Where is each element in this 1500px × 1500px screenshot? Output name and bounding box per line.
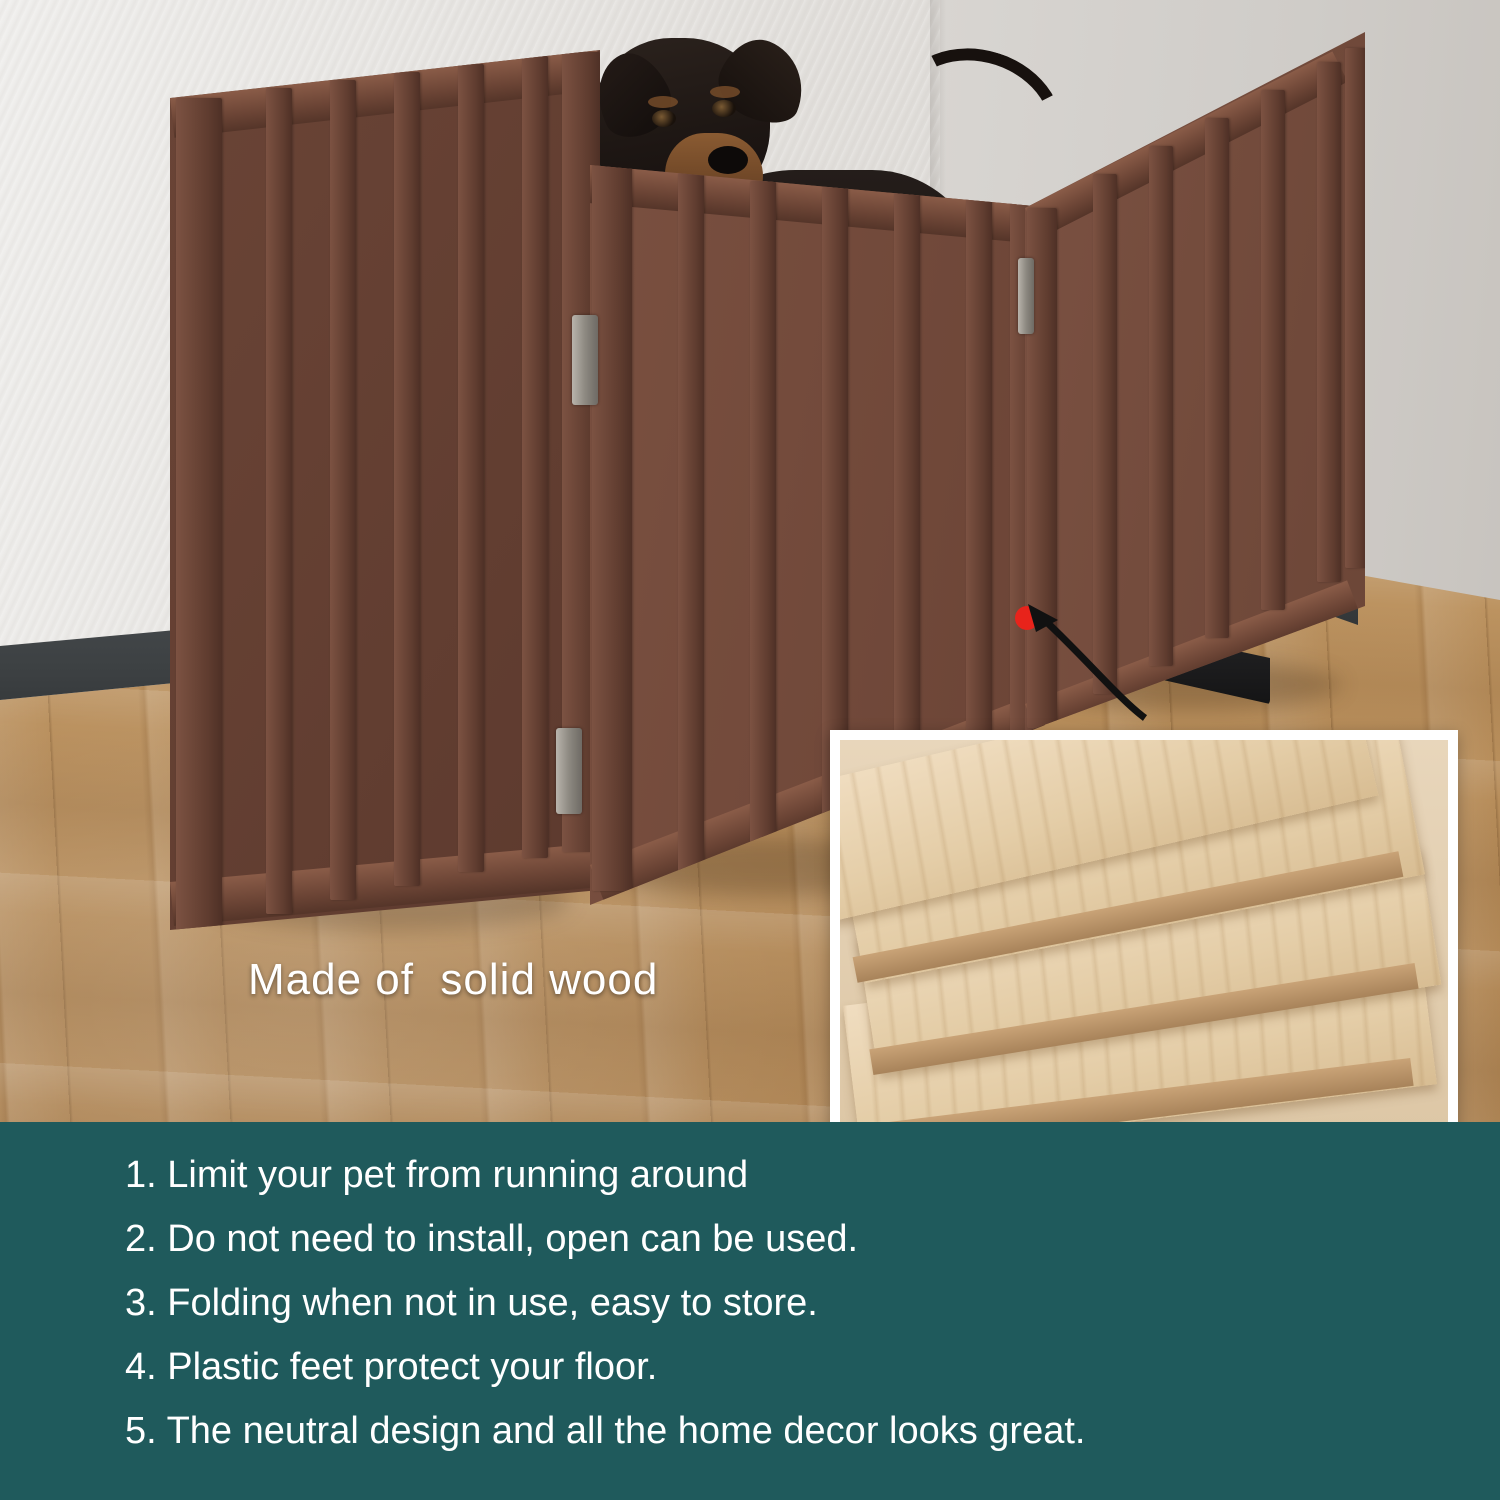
panel-stile [1345,48,1367,568]
panel-slat [678,173,704,873]
panel-slat [1317,62,1341,582]
dog-nose [708,146,748,174]
panel-stile [592,165,632,891]
hinge-right [1018,258,1034,334]
feature-item-1: 1. Limit your pet from running around [125,1156,1500,1194]
feature-item-5: 5. The neutral design and all the home d… [125,1412,1500,1450]
panel-slat [266,88,292,914]
dog-ear-right [709,29,818,134]
gate-panel-left [170,50,600,930]
feature-item-4: 4. Plastic feet protect your floor. [125,1348,1500,1386]
panel-slat [1205,118,1229,638]
hinge-lower [556,728,582,814]
callout-arrow-icon [1000,590,1180,730]
panel-slat [1149,146,1173,666]
dog-eye-right [712,100,736,117]
wood-closeup-inset [830,730,1458,1122]
dog-eye-left [652,110,676,127]
lifestyle-photo: Made of solid wood [0,0,1500,1122]
photo-caption: Made of solid wood [248,955,658,1005]
feature-item-3: 3. Folding when not in use, easy to stor… [125,1284,1500,1322]
product-infographic: Made of solid wood 1. Limit your pet fro… [0,0,1500,1500]
panel-slat [522,56,548,858]
feature-list: 1. Limit your pet from running around 2.… [0,1122,1500,1500]
panel-stile [176,98,222,930]
hinge-upper [572,315,598,405]
panel-slat [750,181,776,861]
dog-brow-left [648,96,678,108]
panel-slat [394,72,420,886]
panel-slat [330,80,356,900]
panel-slat [1261,90,1285,610]
dog-brow-right [710,86,740,98]
panel-slat [458,64,484,872]
feature-item-2: 2. Do not need to install, open can be u… [125,1220,1500,1258]
panel-slat [966,199,992,819]
